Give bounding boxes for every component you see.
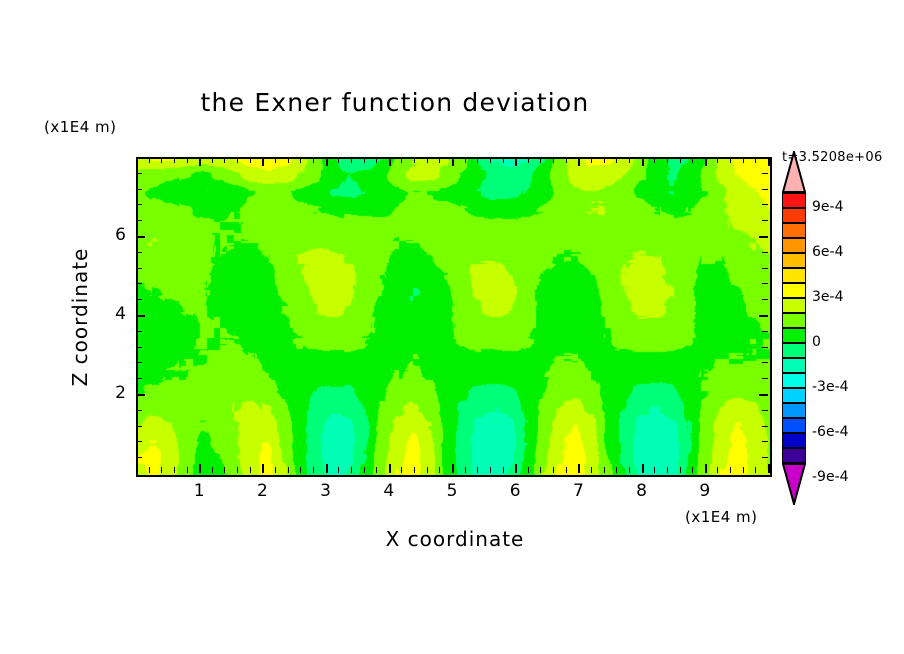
x-tick-bottom <box>288 467 289 473</box>
colorbar-tick-label: -3e-4 <box>812 379 849 395</box>
x-tick-top <box>528 157 529 163</box>
x-tick-top <box>224 157 225 163</box>
x-tick-bottom <box>149 467 150 473</box>
y-tick-left <box>136 331 142 332</box>
x-tick-top <box>338 157 339 163</box>
x-tick-top <box>376 157 377 163</box>
y-tick-left <box>136 362 142 363</box>
x-tick-top <box>313 157 314 163</box>
x-tick-top <box>616 157 617 163</box>
x-tick-bottom <box>224 467 225 473</box>
y-tick-left <box>136 299 142 300</box>
colorbar-under-arrow <box>782 463 806 505</box>
x-tick-top <box>427 157 428 163</box>
x-tick-bottom <box>629 467 630 473</box>
x-tick-bottom <box>376 467 377 473</box>
x-tick-bottom <box>161 467 162 473</box>
colorbar-tick-label: 0 <box>812 334 821 350</box>
x-tick-bottom <box>692 467 693 473</box>
x-tick-bottom <box>351 467 352 473</box>
z-axis-title: Z coordinate <box>68 207 92 427</box>
colorbar-band <box>782 283 806 298</box>
x-tick-bottom <box>717 467 718 473</box>
x-tick-top <box>149 157 150 163</box>
colorbar-band <box>782 328 806 343</box>
x-tick-bottom <box>553 467 554 473</box>
y-tick-right <box>762 410 768 411</box>
x-tick-bottom <box>199 464 201 473</box>
x-tick-bottom <box>326 464 328 473</box>
x-tick-label: 1 <box>184 481 214 501</box>
y-tick-right <box>762 220 768 221</box>
x-tick-bottom <box>465 467 466 473</box>
colorbar-tick-label: 3e-4 <box>812 289 843 305</box>
x-axis-title: X coordinate <box>330 527 580 551</box>
x-tick-bottom <box>490 467 491 473</box>
x-tick-bottom <box>604 467 605 473</box>
colorbar-band <box>782 253 806 268</box>
colorbar-band <box>782 268 806 283</box>
x-tick-top <box>401 157 402 163</box>
y-tick-right <box>762 252 768 253</box>
x-tick-top <box>351 157 352 163</box>
y-tick-label: 6 <box>96 225 126 245</box>
y-tick-right <box>762 299 768 300</box>
x-tick-bottom <box>250 467 251 473</box>
x-tick-top <box>540 157 541 163</box>
x-tick-top <box>553 157 554 163</box>
x-tick-label: 6 <box>500 481 530 501</box>
y-tick-left <box>136 441 142 442</box>
x-tick-top <box>300 157 301 163</box>
x-tick-bottom <box>591 467 592 473</box>
x-tick-top <box>629 157 630 163</box>
x-tick-top <box>642 157 644 166</box>
page-title: the Exner function deviation <box>0 88 790 117</box>
colorbar-tick-label: -6e-4 <box>812 424 849 440</box>
y-tick-right <box>762 189 768 190</box>
x-tick-top <box>705 157 707 166</box>
x-tick-top <box>490 157 491 163</box>
contour-plot-area <box>136 157 772 477</box>
y-tick-left <box>136 426 142 427</box>
x-tick-bottom <box>477 467 478 473</box>
x-tick-top <box>755 157 756 163</box>
y-tick-left <box>136 204 142 205</box>
x-tick-bottom <box>667 467 668 473</box>
x-tick-top <box>503 157 504 163</box>
x-tick-bottom <box>275 467 276 473</box>
x-tick-bottom <box>515 464 517 473</box>
x-tick-bottom <box>338 467 339 473</box>
x-tick-top <box>465 157 466 163</box>
x-tick-bottom <box>452 464 454 473</box>
x-tick-bottom <box>503 467 504 473</box>
x-tick-top <box>326 157 328 166</box>
x-tick-top <box>237 157 238 163</box>
colorbar-band <box>782 298 806 313</box>
colorbar-band <box>782 418 806 433</box>
x-tick-top <box>730 157 731 163</box>
x-tick-bottom <box>364 467 365 473</box>
colorbar-tick-label: 9e-4 <box>812 199 843 215</box>
x-tick-top <box>717 157 718 163</box>
y-tick-left <box>136 457 142 458</box>
y-tick-left <box>136 394 145 396</box>
colorbar-band <box>782 373 806 388</box>
x-tick-bottom <box>262 464 264 473</box>
colorbar-over-arrow <box>782 151 806 193</box>
x-tick-top <box>187 157 188 163</box>
x-tick-bottom <box>578 464 580 473</box>
y-tick-left <box>136 315 145 317</box>
y-tick-label: 2 <box>96 383 126 403</box>
x-tick-top <box>768 157 770 166</box>
x-tick-top <box>452 157 454 166</box>
y-tick-left <box>136 378 142 379</box>
x-tick-top <box>288 157 289 163</box>
x-tick-top <box>199 157 201 166</box>
x-tick-top <box>578 157 580 166</box>
colorbar <box>782 193 806 493</box>
x-tick-bottom <box>313 467 314 473</box>
x-tick-bottom <box>755 467 756 473</box>
x-tick-label: 8 <box>627 481 657 501</box>
y-tick-label: 4 <box>96 304 126 324</box>
x-tick-top <box>591 157 592 163</box>
x-axis-unit-label: (x1E4 m) <box>685 508 758 526</box>
colorbar-band <box>782 433 806 448</box>
x-tick-bottom <box>389 464 391 473</box>
colorbar-tick-label: -9e-4 <box>812 469 849 485</box>
x-tick-bottom <box>439 467 440 473</box>
x-tick-bottom <box>300 467 301 473</box>
x-tick-top <box>414 157 415 163</box>
x-tick-bottom <box>212 467 213 473</box>
x-tick-bottom <box>616 467 617 473</box>
x-tick-bottom <box>566 467 567 473</box>
x-tick-bottom <box>401 467 402 473</box>
figure-canvas: the Exner function deviation (x1E4 m) (x… <box>0 0 904 654</box>
x-tick-top <box>174 157 175 163</box>
y-tick-right <box>762 457 768 458</box>
x-tick-bottom <box>768 464 770 473</box>
x-tick-top <box>389 157 391 166</box>
x-tick-bottom <box>237 467 238 473</box>
z-axis-unit-label: (x1E4 m) <box>44 118 117 136</box>
x-tick-top <box>364 157 365 163</box>
colorbar-band <box>782 208 806 223</box>
colorbar-band <box>782 388 806 403</box>
colorbar-band <box>782 358 806 373</box>
x-tick-top <box>743 157 744 163</box>
colorbar-band <box>782 343 806 358</box>
x-tick-bottom <box>642 464 644 473</box>
x-tick-top <box>262 157 264 166</box>
x-tick-top <box>692 157 693 163</box>
y-tick-right <box>762 283 768 284</box>
x-tick-top <box>654 157 655 163</box>
x-tick-label: 9 <box>690 481 720 501</box>
colorbar-band <box>782 193 806 208</box>
x-tick-bottom <box>174 467 175 473</box>
x-tick-top <box>515 157 517 166</box>
y-tick-right <box>762 441 768 442</box>
x-tick-label: 2 <box>247 481 277 501</box>
x-tick-label: 7 <box>563 481 593 501</box>
x-tick-bottom <box>540 467 541 473</box>
y-tick-right <box>762 362 768 363</box>
x-tick-top <box>680 157 681 163</box>
colorbar-band <box>782 313 806 328</box>
y-tick-left <box>136 283 142 284</box>
y-tick-right <box>762 347 768 348</box>
x-tick-bottom <box>705 464 707 473</box>
y-tick-left <box>136 347 142 348</box>
x-tick-top <box>250 157 251 163</box>
colorbar-band <box>782 238 806 253</box>
y-tick-left <box>136 173 142 174</box>
x-tick-label: 3 <box>311 481 341 501</box>
contour-field <box>138 159 770 475</box>
x-tick-top <box>477 157 478 163</box>
colorbar-band <box>782 223 806 238</box>
x-tick-bottom <box>654 467 655 473</box>
y-tick-left <box>136 189 142 190</box>
y-tick-right <box>759 394 768 396</box>
x-tick-bottom <box>680 467 681 473</box>
y-tick-left <box>136 252 142 253</box>
y-tick-right <box>762 331 768 332</box>
x-tick-top <box>275 157 276 163</box>
y-tick-right <box>762 204 768 205</box>
y-tick-left <box>136 236 145 238</box>
x-tick-bottom <box>528 467 529 473</box>
y-tick-right <box>762 268 768 269</box>
x-tick-bottom <box>743 467 744 473</box>
colorbar-band <box>782 448 806 463</box>
y-tick-right <box>759 236 768 238</box>
x-tick-label: 4 <box>374 481 404 501</box>
x-tick-top <box>604 157 605 163</box>
x-tick-top <box>566 157 567 163</box>
colorbar-tick-label: 6e-4 <box>812 244 843 260</box>
x-tick-top <box>439 157 440 163</box>
x-tick-bottom <box>730 467 731 473</box>
y-tick-left <box>136 220 142 221</box>
x-tick-bottom <box>427 467 428 473</box>
y-tick-right <box>759 315 768 317</box>
x-tick-top <box>212 157 213 163</box>
y-tick-right <box>762 426 768 427</box>
x-tick-top <box>161 157 162 163</box>
y-tick-left <box>136 268 142 269</box>
colorbar-band <box>782 403 806 418</box>
x-tick-bottom <box>187 467 188 473</box>
x-tick-bottom <box>414 467 415 473</box>
y-tick-right <box>762 173 768 174</box>
x-tick-label: 5 <box>437 481 467 501</box>
y-tick-right <box>762 378 768 379</box>
y-tick-left <box>136 410 142 411</box>
x-tick-top <box>667 157 668 163</box>
